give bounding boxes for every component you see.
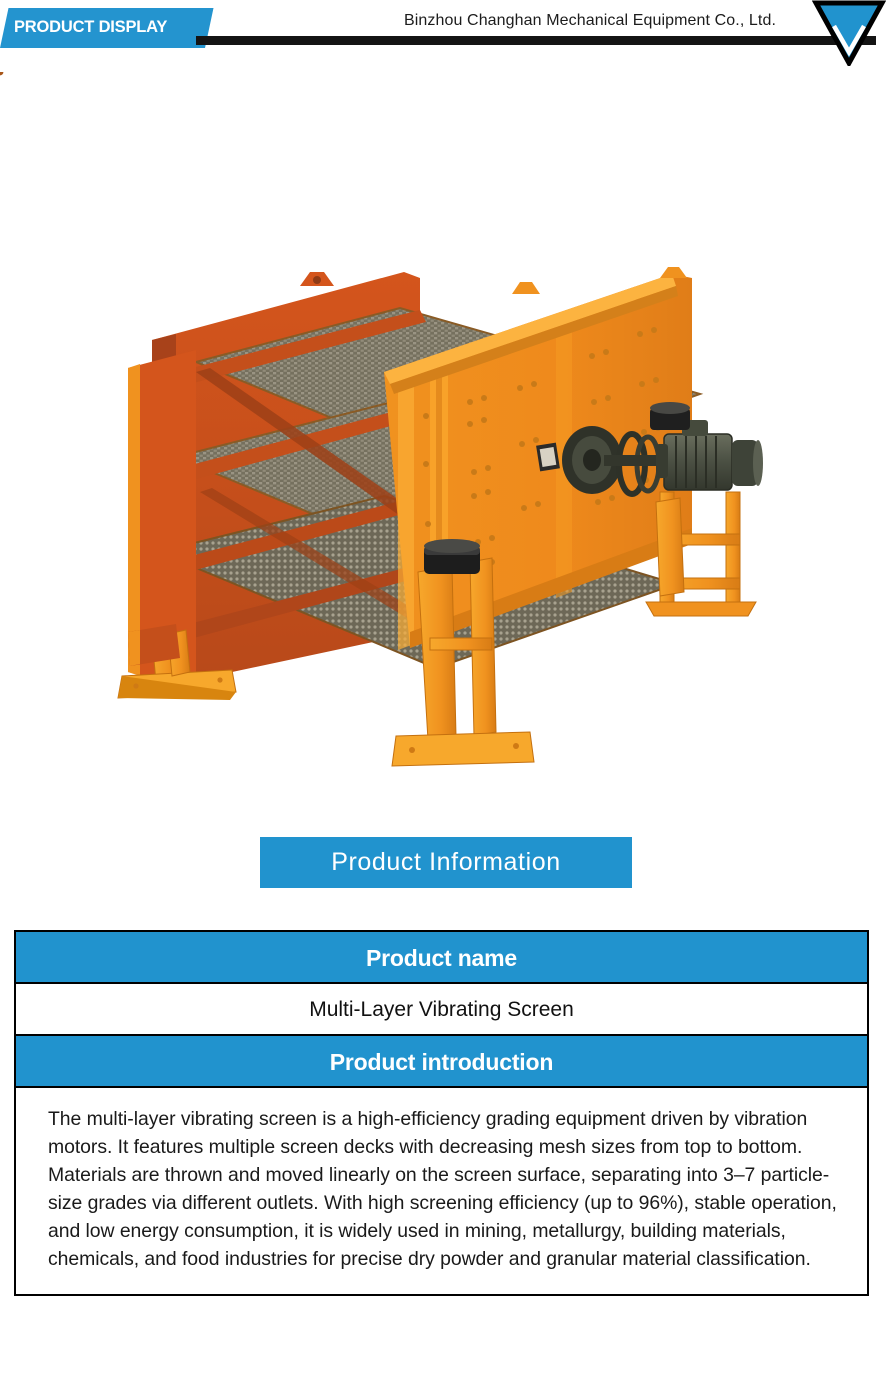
table-row: Multi-Layer Vibrating Screen xyxy=(16,984,867,1036)
product-introduction-header: Product introduction xyxy=(16,1036,867,1086)
product-image xyxy=(0,72,896,812)
product-name-header: Product name xyxy=(16,932,867,982)
company-name: Binzhou Changhan Mechanical Equipment Co… xyxy=(330,12,850,30)
table-row: Product introduction xyxy=(16,1036,867,1088)
product-introduction-text: The multi-layer vibrating screen is a hi… xyxy=(48,1105,843,1274)
product-name-value: Multi-Layer Vibrating Screen xyxy=(16,984,867,1034)
triangle-logo-icon xyxy=(812,0,886,66)
product-information-banner: Product Information xyxy=(260,837,632,888)
product-information-banner-label: Product Information xyxy=(260,837,632,888)
table-row: The multi-layer vibrating screen is a hi… xyxy=(16,1088,867,1294)
table-row: Product name xyxy=(16,932,867,984)
header-divider-rule xyxy=(196,36,876,45)
product-info-table: Product name Multi-Layer Vibrating Scree… xyxy=(14,930,869,1296)
product-display-badge-label: PRODUCT DISPLAY xyxy=(14,14,204,40)
vibrating-screen-illustration xyxy=(0,72,896,812)
page-header: PRODUCT DISPLAY Binzhou Changhan Mechani… xyxy=(0,0,896,72)
